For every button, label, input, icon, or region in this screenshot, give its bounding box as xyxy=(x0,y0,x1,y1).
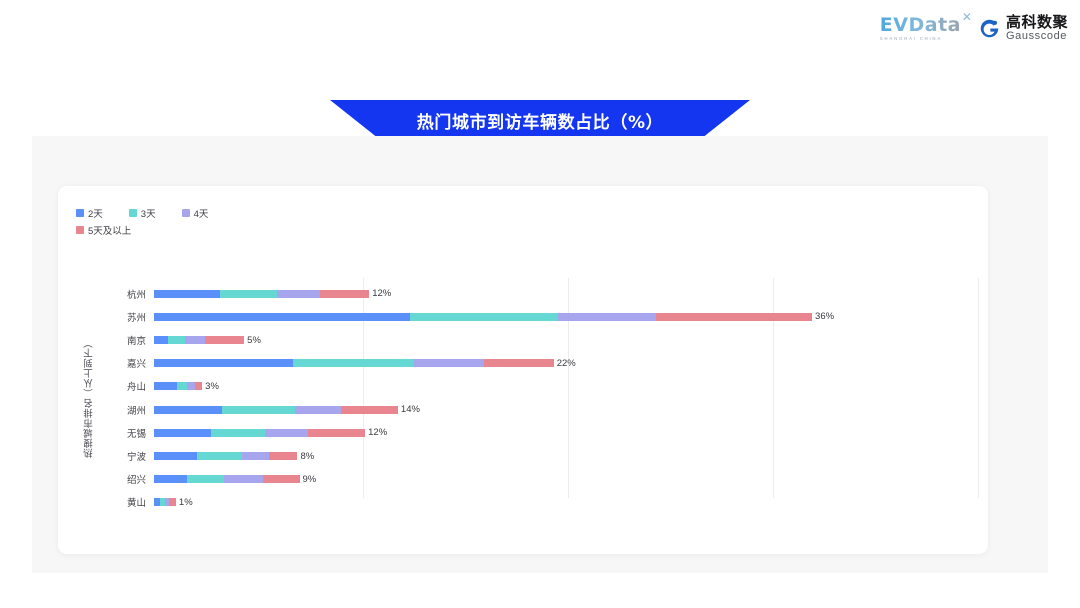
chart-row: 宁波8% xyxy=(82,445,974,467)
chart-plot: 热搜城市排名（从上到下） 杭州12%苏州36%南京5%嘉兴22%舟山3%湖州14… xyxy=(82,282,974,514)
gausscode-logo: 高科数聚 Gausscode xyxy=(979,15,1068,42)
title-banner-wrap: 热门城市到访车辆数占比（%） xyxy=(0,100,1080,140)
bar-segment-0[interactable] xyxy=(154,382,177,390)
bar-value-label: 12% xyxy=(372,288,391,299)
page-title: 热门城市到访车辆数占比（%） xyxy=(417,108,663,133)
legend-label-5day-plus: 5天及以上 xyxy=(88,223,131,237)
bar-value-label: 36% xyxy=(815,311,834,322)
bar-segment-2[interactable] xyxy=(224,475,263,483)
bar-value-label: 22% xyxy=(557,358,576,369)
legend-item-5day-plus[interactable]: 5天及以上 xyxy=(76,223,131,237)
bar-segment-3[interactable] xyxy=(320,290,369,298)
category-label-2: 南京 xyxy=(82,333,154,347)
slide-page: EVData ✕ SHANGHAI CHINA 高科数聚 Gausscode 热… xyxy=(0,0,1080,608)
legend-label-2day: 2天 xyxy=(88,206,103,220)
bar-area: 12% xyxy=(154,422,974,444)
chart-card: 2天 3天 4天 5天及以上 热搜城市排名 xyxy=(58,186,988,554)
legend-item-4day[interactable]: 4天 xyxy=(182,206,209,220)
gausscode-cn-name: 高科数聚 xyxy=(1006,15,1068,31)
bar-segment-0[interactable] xyxy=(154,313,410,321)
chart-row: 南京5% xyxy=(82,329,974,351)
legend-swatch-3day xyxy=(129,209,137,217)
bar-segment-0[interactable] xyxy=(154,359,293,367)
bar-segment-2[interactable] xyxy=(242,452,269,460)
bar-segment-1[interactable] xyxy=(211,429,264,437)
bar-segment-1[interactable] xyxy=(222,406,296,414)
category-label-6: 无锡 xyxy=(82,426,154,440)
bar-segment-3[interactable] xyxy=(205,336,244,344)
bar-segment-2[interactable] xyxy=(277,290,320,298)
chart-row: 苏州36% xyxy=(82,306,974,328)
evdata-logo: EVData ✕ SHANGHAI CHINA xyxy=(880,16,961,41)
bar-segment-1[interactable] xyxy=(410,313,558,321)
bar-segment-0[interactable] xyxy=(154,429,211,437)
legend-swatch-4day xyxy=(182,209,190,217)
gausscode-text: 高科数聚 Gausscode xyxy=(1006,15,1068,42)
bar-segment-3[interactable] xyxy=(341,406,398,414)
bar-value-label: 3% xyxy=(205,381,219,392)
bar-segment-3[interactable] xyxy=(195,382,202,390)
bar-segment-2[interactable] xyxy=(187,382,195,390)
bar-segment-2[interactable] xyxy=(265,429,308,437)
bar-segment-0[interactable] xyxy=(154,475,187,483)
bar-value-label: 9% xyxy=(303,474,317,485)
chart-legend: 2天 3天 4天 5天及以上 xyxy=(76,206,376,240)
stacked-bar[interactable] xyxy=(154,429,365,437)
legend-swatch-5day-plus xyxy=(76,226,84,234)
title-banner: 热门城市到访车辆数占比（%） xyxy=(330,100,750,140)
bar-segment-2[interactable] xyxy=(295,406,340,414)
legend-item-2day[interactable]: 2天 xyxy=(76,206,103,220)
evdata-subtitle: SHANGHAI CHINA xyxy=(880,37,942,41)
legend-swatch-2day xyxy=(76,209,84,217)
chart-row: 黄山1% xyxy=(82,491,974,513)
category-label-4: 舟山 xyxy=(82,379,154,393)
bar-segment-3[interactable] xyxy=(308,429,365,437)
stacked-bar[interactable] xyxy=(154,406,398,414)
chart-rows: 杭州12%苏州36%南京5%嘉兴22%舟山3%湖州14%无锡12%宁波8%绍兴9… xyxy=(82,282,974,514)
evdata-x-icon: ✕ xyxy=(962,11,972,23)
bar-segment-0[interactable] xyxy=(154,290,220,298)
gridline-40 xyxy=(978,278,979,498)
bar-segment-3[interactable] xyxy=(484,359,554,367)
bar-segment-3[interactable] xyxy=(269,452,298,460)
stacked-bar[interactable] xyxy=(154,382,202,390)
bar-area: 8% xyxy=(154,445,974,467)
chart-row: 湖州14% xyxy=(82,399,974,421)
bar-segment-3[interactable] xyxy=(656,313,812,321)
bar-value-label: 14% xyxy=(401,404,420,415)
legend-item-3day[interactable]: 3天 xyxy=(129,206,156,220)
category-label-0: 杭州 xyxy=(82,287,154,301)
bar-area: 14% xyxy=(154,399,974,421)
category-label-1: 苏州 xyxy=(82,310,154,324)
gausscode-en-name: Gausscode xyxy=(1006,31,1068,43)
stacked-bar[interactable] xyxy=(154,452,297,460)
stacked-bar[interactable] xyxy=(154,498,176,506)
category-label-8: 绍兴 xyxy=(82,472,154,486)
bar-segment-1[interactable] xyxy=(168,336,184,344)
chart-row: 舟山3% xyxy=(82,375,974,397)
category-label-5: 湖州 xyxy=(82,403,154,417)
bar-area: 3% xyxy=(154,375,974,397)
bar-segment-1[interactable] xyxy=(197,452,242,460)
legend-row-1: 2天 3天 4天 xyxy=(76,206,376,220)
bar-segment-1[interactable] xyxy=(220,290,277,298)
bar-area: 22% xyxy=(154,352,974,374)
bar-segment-0[interactable] xyxy=(154,452,197,460)
bar-value-label: 5% xyxy=(247,335,261,346)
bar-value-label: 8% xyxy=(300,451,314,462)
legend-label-3day: 3天 xyxy=(141,206,156,220)
bar-segment-1[interactable] xyxy=(187,475,224,483)
bar-area: 5% xyxy=(154,329,974,351)
chart-row: 绍兴9% xyxy=(82,468,974,490)
chart-row: 杭州12% xyxy=(82,283,974,305)
stacked-bar[interactable] xyxy=(154,290,369,298)
bar-value-label: 1% xyxy=(179,497,193,508)
chart-row: 嘉兴22% xyxy=(82,352,974,374)
bar-area: 1% xyxy=(154,491,974,513)
legend-label-4day: 4天 xyxy=(194,206,209,220)
evdata-wordmark: EVData xyxy=(880,16,961,35)
bar-segment-2[interactable] xyxy=(414,359,484,367)
bar-segment-1[interactable] xyxy=(177,382,187,390)
stacked-bar[interactable] xyxy=(154,359,554,367)
stacked-bar[interactable] xyxy=(154,475,300,483)
header-logo-bar: EVData ✕ SHANGHAI CHINA 高科数聚 Gausscode xyxy=(880,8,1068,50)
chart-row: 无锡12% xyxy=(82,422,974,444)
category-label-9: 黄山 xyxy=(82,495,154,509)
bar-segment-3[interactable] xyxy=(263,475,300,483)
category-label-7: 宁波 xyxy=(82,449,154,463)
legend-row-2: 5天及以上 xyxy=(76,223,376,237)
bar-value-label: 12% xyxy=(368,427,387,438)
bar-segment-1[interactable] xyxy=(293,359,414,367)
gausscode-mark-icon xyxy=(979,18,1000,39)
category-label-3: 嘉兴 xyxy=(82,356,154,370)
stacked-bar[interactable] xyxy=(154,336,244,344)
bar-segment-0[interactable] xyxy=(154,336,168,344)
bar-segment-0[interactable] xyxy=(154,406,222,414)
bar-area: 36% xyxy=(154,306,974,328)
bar-area: 9% xyxy=(154,468,974,490)
stacked-bar[interactable] xyxy=(154,313,812,321)
bar-segment-3[interactable] xyxy=(169,498,176,506)
bar-segment-2[interactable] xyxy=(558,313,656,321)
bar-area: 12% xyxy=(154,283,974,305)
bar-segment-2[interactable] xyxy=(185,336,206,344)
